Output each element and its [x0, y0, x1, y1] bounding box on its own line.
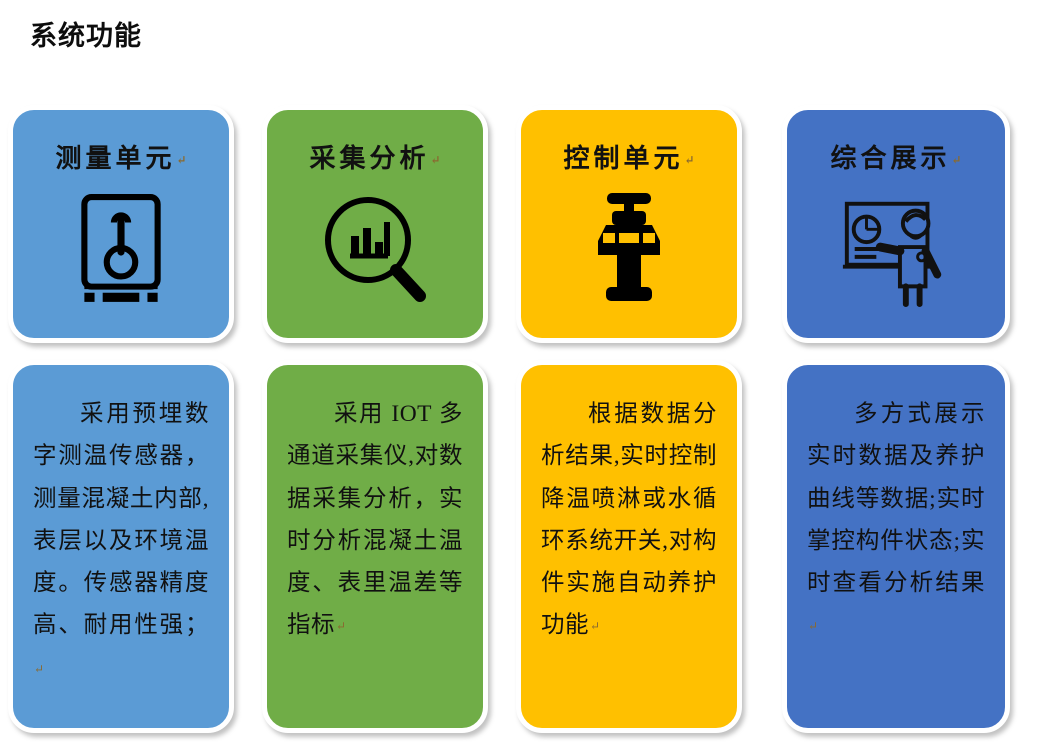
card-title-text: 测量单元 [55, 144, 175, 173]
card-title-control: 控制单元↵ [563, 138, 694, 175]
function-card-header-display[interactable]: 综合展示↵ [782, 105, 1010, 343]
card-title-acquisition: 采集分析↵ [309, 138, 440, 175]
card-body-text-measurement: 采用预埋数字测温传感器，测量混凝土内部,表层以及环境温度。传感器精度高、耐用性强… [13, 365, 229, 699]
card-title-measurement: 测量单元↵ [55, 138, 186, 175]
thermometer-device-icon [57, 185, 185, 313]
function-card-body-control[interactable]: 根据数据分析结果,实时控制降温喷淋或水循环系统开关,对构件实施自动养护功能↵ [516, 360, 742, 733]
function-card-header-control[interactable]: 控制单元↵ [516, 105, 742, 343]
card-body-content: 采用 IOT 多通道采集仪,对数据采集分析，实时分析混凝土温度、表里温差等指标 [287, 401, 463, 638]
paragraph-mark-icon: ↵ [951, 153, 961, 167]
paragraph-mark-icon: ↵ [176, 153, 186, 167]
magnifier-barchart-icon [311, 185, 439, 313]
function-card-board: 测量单元↵ 采用预埋数字测温传感器，测量混凝土内部,表层以及环境温度。传感器精度… [0, 98, 1040, 746]
function-card-header-measurement[interactable]: 测量单元↵ [8, 105, 234, 343]
card-body-content: 多方式展示实时数据及养护曲线等数据;实时掌控构件状态;实时查看分析结果 [807, 401, 985, 596]
paragraph-mark-icon: ↵ [430, 153, 440, 167]
function-card-body-acquisition[interactable]: 采用 IOT 多通道采集仪,对数据采集分析，实时分析混凝土温度、表里温差等指标↵ [262, 360, 488, 733]
presenter-whiteboard-icon [832, 185, 960, 313]
card-title-display: 综合展示↵ [830, 138, 961, 175]
card-body-content: 根据数据分析结果,实时控制降温喷淋或水循环系统开关,对构件实施自动养护功能 [541, 401, 717, 638]
card-body-text-display: 多方式展示实时数据及养护曲线等数据;实时掌控构件状态;实时查看分析结果↵ [787, 365, 1005, 657]
paragraph-mark-icon: ↵ [34, 662, 44, 676]
card-body-content: 采用预埋数字测温传感器，测量混凝土内部,表层以及环境温度。传感器精度高、耐用性强… [33, 401, 209, 638]
card-title-text: 控制单元 [563, 144, 683, 173]
page-title: 系统功能 [30, 14, 142, 53]
paragraph-mark-icon: ↵ [590, 619, 600, 633]
paragraph-mark-icon: ↵ [808, 619, 818, 633]
function-card-header-acquisition[interactable]: 采集分析↵ [262, 105, 488, 343]
function-card-body-display[interactable]: 多方式展示实时数据及养护曲线等数据;实时掌控构件状态;实时查看分析结果↵ [782, 360, 1010, 733]
card-body-text-control: 根据数据分析结果,实时控制降温喷淋或水循环系统开关,对构件实施自动养护功能↵ [521, 365, 737, 657]
card-body-text-acquisition: 采用 IOT 多通道采集仪,对数据采集分析，实时分析混凝土温度、表里温差等指标↵ [267, 365, 483, 657]
paragraph-mark-icon: ↵ [684, 153, 694, 167]
control-tower-icon [565, 185, 693, 313]
card-title-text: 采集分析 [309, 144, 429, 173]
function-card-body-measurement[interactable]: 采用预埋数字测温传感器，测量混凝土内部,表层以及环境温度。传感器精度高、耐用性强… [8, 360, 234, 733]
card-title-text: 综合展示 [830, 144, 950, 173]
paragraph-mark-icon: ↵ [336, 619, 346, 633]
